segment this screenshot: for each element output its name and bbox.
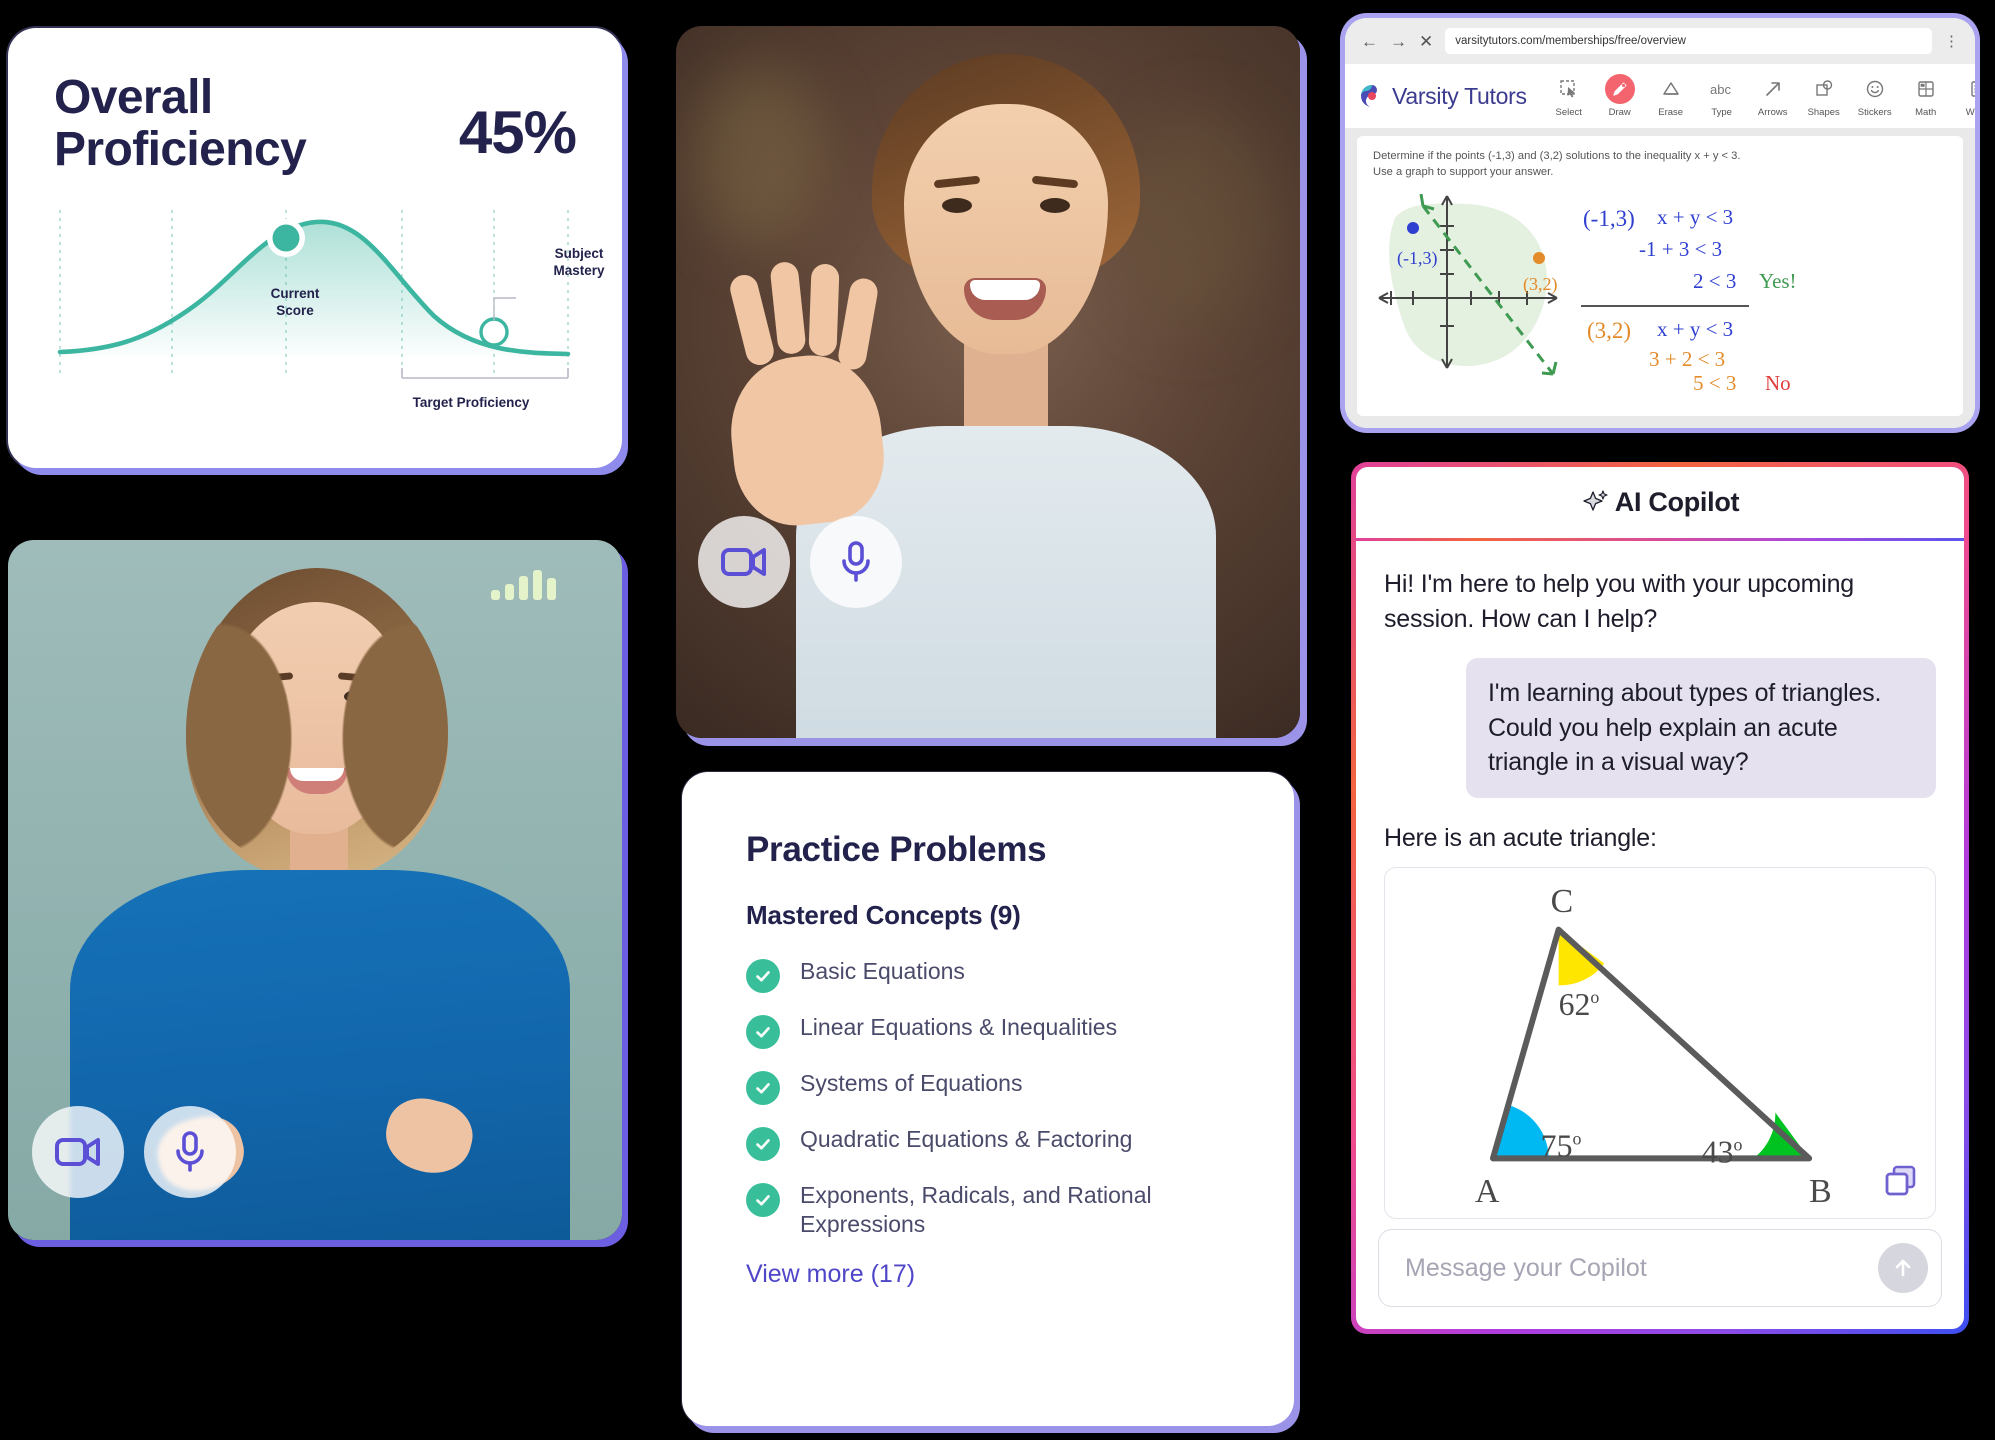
check-circle-icon [746,959,780,993]
copilot-header: AI Copilot [1356,467,1964,541]
whiteboard-tool-label: Math [1902,107,1950,118]
point-b-dot [1533,252,1545,264]
brand-name: Varsity Tutors [1392,83,1527,110]
view-more-link[interactable]: View more (17) [746,1260,1240,1289]
microphone-icon [839,541,873,583]
svg-text:No: No [1765,371,1791,390]
list-item-label: Quadratic Equations & Factoring [800,1125,1132,1154]
vertex-label-c: C [1551,882,1574,919]
eraser-icon [1647,74,1695,104]
microphone-toggle-button[interactable] [810,516,902,608]
whiteboard-browser-window: ← → ✕ varsitytutors.com/memberships/free… [1345,18,1975,428]
mastered-concepts-heading: Mastered Concepts (9) [746,900,1240,931]
vertex-label-b: B [1809,1173,1832,1210]
point-a-dot [1407,222,1419,234]
current-score-marker [273,224,300,251]
whiteboard-canvas[interactable]: Determine if the points (-1,3) and (3,2)… [1357,136,1963,416]
whiteboard-tool-label: Shapes [1800,107,1848,118]
mastery-leader-line [494,298,516,320]
url-input[interactable]: varsitytutors.com/memberships/free/overv… [1445,28,1932,54]
page-title: OverallProficiency [54,72,306,176]
svg-text:abc: abc [1710,82,1731,97]
whiteboard-tool-label: Write [1953,107,1975,118]
video-camera-icon [721,545,767,579]
assistant-message: Hi! I'm here to help you with your upcom… [1384,567,1936,636]
target-proficiency-label: Target Proficiency [396,395,546,412]
whiteboard-tool-select[interactable]: Select [1545,74,1593,118]
student-video-controls [698,516,902,608]
point-b-label: (3,2) [1523,274,1558,295]
video-camera-icon [55,1135,101,1169]
message-input[interactable] [1378,1229,1942,1307]
whiteboard-canvas-area: Determine if the points (-1,3) and (3,2)… [1345,128,1975,428]
document-lines-icon [1953,74,1975,104]
whiteboard-tool-shapes[interactable]: Shapes [1800,74,1848,118]
list-item[interactable]: Exponents, Radicals, and Rational Expres… [746,1181,1240,1240]
whiteboard-tool-label: Stickers [1851,107,1899,118]
list-item[interactable]: Systems of Equations [746,1069,1240,1105]
copilot-conversation: Hi! I'm here to help you with your upcom… [1356,541,1964,1219]
browser-url-bar: ← → ✕ varsitytutors.com/memberships/free… [1345,18,1975,64]
vertex-label-a: A [1475,1173,1500,1210]
check-circle-icon [746,1183,780,1217]
list-item[interactable]: Linear Equations & Inequalities [746,1013,1240,1049]
user-message: I'm learning about types of triangles. C… [1466,658,1936,798]
assistant-message: Here is an acute triangle: [1384,824,1936,853]
varsity-tutors-logo: Varsity Tutors [1359,83,1527,110]
list-item-label: Exponents, Radicals, and Rational Expres… [800,1181,1240,1240]
whiteboard-tool-math[interactable]: Math [1902,74,1950,118]
svg-text:-1 + 3 < 3: -1 + 3 < 3 [1639,237,1722,261]
svg-text:3 + 2 < 3: 3 + 2 < 3 [1649,347,1725,371]
whiteboard-tool-label: Select [1545,107,1593,118]
send-button[interactable] [1878,1243,1928,1293]
arrow-up-icon [1891,1256,1915,1280]
copilot-input-row [1378,1229,1942,1307]
list-item[interactable]: Quadratic Equations & Factoring [746,1125,1240,1161]
triangle-outline [1493,929,1809,1158]
text-abc-icon: abc [1698,74,1746,104]
arrow-up-right-icon [1749,74,1797,104]
check-circle-icon [746,1015,780,1049]
svg-text:5 < 3: 5 < 3 [1693,371,1736,390]
subject-mastery-label: SubjectMastery [534,246,624,280]
acute-triangle-diagram: C A B 62o 75o 43o [1385,868,1935,1218]
check-circle-icon [746,1071,780,1105]
whiteboard-tool-label: Draw [1596,107,1644,118]
pencil-icon [1605,74,1635,104]
whiteboard-tool-label: Arrows [1749,107,1797,118]
microphone-toggle-button[interactable] [144,1106,236,1198]
calculator-icon [1902,74,1950,104]
whiteboard-tool-list: SelectDrawEraseabcTypeArrowsShapesSticke… [1545,74,1975,118]
subject-mastery-marker [481,319,507,345]
camera-toggle-button[interactable] [32,1106,124,1198]
close-icon[interactable]: ✕ [1419,33,1433,50]
work-block-b: (3,2) x + y < 3 3 + 2 < 3 5 < 3 No [1587,317,1791,390]
current-score-label: CurrentScore [250,286,340,320]
ai-copilot-panel: AI Copilot Hi! I'm here to help you with… [1351,462,1969,1334]
whiteboard-tool-type[interactable]: abcType [1698,74,1746,118]
arrow-right-icon[interactable]: → [1390,33,1407,50]
varsity-tutors-logo-icon [1359,83,1385,109]
whiteboard-tool-arrows[interactable]: Arrows [1749,74,1797,118]
select-marquee-icon [1545,74,1593,104]
point-a-label: (-1,3) [1397,248,1437,269]
proficiency-chart: CurrentScore SubjectMastery Target Profi… [54,210,576,420]
angle-value-b: 43o [1702,1134,1743,1169]
copilot-title: AI Copilot [1615,487,1739,518]
whiteboard-tool-write[interactable]: Write [1953,74,1975,118]
svg-text:2 < 3: 2 < 3 [1693,269,1736,293]
student-video-frame [676,26,1300,738]
list-item-label: Systems of Equations [800,1069,1022,1098]
kebab-menu-icon[interactable]: ⋮ [1944,32,1959,50]
microphone-icon [173,1131,207,1173]
copy-button[interactable] [1881,1161,1921,1206]
copy-icon [1881,1161,1921,1201]
list-item-label: Linear Equations & Inequalities [800,1013,1117,1042]
shapes-icon [1800,74,1848,104]
svg-text:Yes!: Yes! [1759,269,1797,293]
whiteboard-tool-label: Erase [1647,107,1695,118]
proficiency-percent: 45% [459,98,576,167]
list-item[interactable]: Basic Equations [746,957,1240,993]
whiteboard-tool-draw[interactable]: Draw [1596,74,1644,118]
problem-prompt-line-1: Determine if the points (-1,3) and (3,2)… [1373,148,1947,164]
whiteboard-tool-stickers[interactable]: Stickers [1851,74,1899,118]
svg-text:x + y < 3: x + y < 3 [1657,317,1733,341]
check-circle-icon [746,1127,780,1161]
student-video-tile[interactable] [676,26,1300,738]
target-bracket [402,368,568,378]
practice-problems-card: Practice Problems Mastered Concepts (9) … [682,772,1294,1426]
signal-bars-icon [491,570,556,600]
svg-text:(-1,3): (-1,3) [1583,206,1635,231]
tutor-video-tile[interactable] [8,540,622,1240]
arrow-left-icon[interactable]: ← [1361,33,1378,50]
mastered-concepts-list: Basic EquationsLinear Equations & Inequa… [746,957,1240,1240]
practice-problems-title: Practice Problems [746,830,1240,870]
camera-toggle-button[interactable] [698,516,790,608]
tutor-video-controls [32,1106,236,1198]
work-block-a: (-1,3) x + y < 3 -1 + 3 < 3 2 < 3 Yes! [1583,205,1797,293]
handwritten-work: (-1,3) (3,2) (-1,3) x + y < 3 -1 + 3 < 3… [1367,178,1939,390]
whiteboard-tool-erase[interactable]: Erase [1647,74,1695,118]
screenshot-stage: OverallProficiency 45% [0,0,1995,1440]
sparkle-icon [1581,488,1611,518]
smiley-sticker-icon [1851,74,1899,104]
whiteboard-toolbar: Varsity Tutors SelectDrawEraseabcTypeArr… [1345,64,1975,128]
overall-proficiency-card: OverallProficiency 45% [8,28,622,468]
proficiency-header: OverallProficiency 45% [54,72,576,176]
whiteboard-tool-label: Type [1698,107,1746,118]
acute-triangle-figure: C A B 62o 75o 43o [1384,867,1936,1219]
angle-value-c: 62o [1559,987,1600,1022]
svg-text:(3,2): (3,2) [1587,318,1631,343]
list-item-label: Basic Equations [800,957,965,986]
svg-text:x + y < 3: x + y < 3 [1657,205,1733,229]
